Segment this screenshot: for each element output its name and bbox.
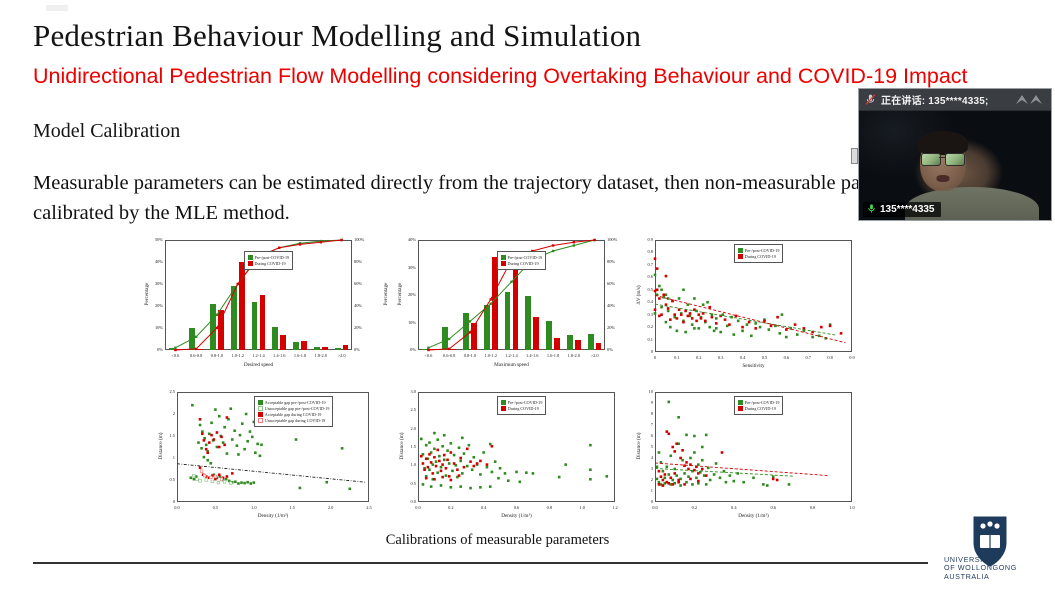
bar: [575, 340, 581, 350]
speaking-status-label: 正在讲话: 135****4335;: [881, 92, 1011, 107]
y-tick-label: 0.5: [396, 481, 416, 486]
y-tick-label: 0.9: [633, 237, 653, 242]
x-tick-label: 0.8: [801, 505, 825, 510]
x-tick-label: 0.2: [682, 505, 706, 510]
y2-tick-label: 100%: [354, 237, 364, 242]
y-tick-label: 10%: [394, 320, 416, 325]
y2-tick-label: 80%: [607, 259, 615, 264]
legend-swatch: [248, 255, 253, 260]
bar: [567, 335, 573, 350]
x-tick-label: 0.6: [761, 505, 785, 510]
bar: [260, 295, 266, 350]
chart-legend: Pre-/post-COVID-19During COVID-19: [734, 244, 784, 263]
y-tick-label: 9: [633, 400, 653, 405]
double-chevron-icon[interactable]: [1011, 93, 1051, 106]
y-tick-label: 8: [633, 411, 653, 416]
x-tick-label: 1.0: [242, 505, 266, 510]
y2-tick-label: 60%: [607, 281, 615, 286]
legend-swatch: [738, 400, 743, 405]
y-axis-title: Distance (m): [636, 426, 642, 466]
y2-tick-label: 20%: [607, 325, 615, 330]
legend-item: Pre-/post-COVID-19: [738, 400, 780, 405]
participant-mouth: [937, 175, 950, 182]
y2-tick-label: 0%: [354, 347, 360, 352]
bar: [588, 334, 594, 351]
x-tick-label: 0.6: [774, 355, 798, 360]
chart-legend: Pre-/post-COVID-19During COVID-19: [244, 251, 294, 270]
microphone-muted-icon[interactable]: [859, 93, 881, 106]
footer-divider: [33, 562, 928, 564]
legend-label: Pre-/post-COVID-19: [255, 255, 290, 260]
legend-item: Acceptable gap during COVID-19: [258, 412, 330, 417]
y-tick-label: 3: [633, 466, 653, 471]
legend-item: During COVID-19: [738, 254, 780, 259]
y-axis-title: Percentage: [144, 274, 150, 314]
bar: [272, 327, 278, 350]
x-tick-label: 0: [643, 355, 667, 360]
legend-swatch: [501, 400, 506, 405]
x-tick-label: 0.2: [439, 505, 463, 510]
y2-tick-label: 100%: [607, 237, 617, 242]
subsection-title: Model Calibration: [33, 120, 180, 143]
y2-tick-label: 0%: [607, 347, 613, 352]
bar: [492, 257, 498, 351]
chart-sensitivity-deltav: 00.10.20.30.40.50.60.70.80.900.10.20.30.…: [625, 232, 860, 380]
video-feed[interactable]: 135****4335: [859, 111, 1051, 221]
uow-logo-text: UNIVERSITY OF WOLLONGONG AUSTRALIA: [944, 556, 1040, 581]
figure-grid: 0%10%20%30%40%50%0%20%40%60%80%100%<0.60…: [135, 232, 860, 532]
x-tick-label: 0.8: [537, 505, 561, 510]
y-axis-title: ΔV (m/s): [636, 275, 642, 315]
y-axis-title: Distance (m): [158, 426, 164, 466]
legend-label: Pre-/post-COVID-19: [508, 255, 543, 260]
x-axis-title: Density (1/m²): [418, 513, 615, 519]
x-tick-label: 0.0: [406, 505, 430, 510]
chart-legend: Pre-/post-COVID-19During COVID-19: [497, 396, 547, 415]
y-tick-label: 0.8: [633, 249, 653, 254]
x-axis-title: Desired speed: [165, 362, 352, 368]
chart-legend: Acceptable gap pre-/post-COVID-19Unaccep…: [254, 396, 334, 427]
y-tick-label: 2: [633, 477, 653, 482]
x-tick-label: 0.4: [722, 505, 746, 510]
bar: [293, 342, 299, 350]
bar: [343, 345, 349, 351]
y2-tick-label: 40%: [607, 303, 615, 308]
chart-gap-acceptance: 0.00.51.01.52.02.500.511.522.5Density (1…: [147, 384, 377, 530]
legend-label: Unacceptable gap pre-/post-COVID-19: [265, 406, 330, 411]
legend-label: Unacceptable gap during COVID-19: [265, 418, 325, 423]
bar: [471, 323, 477, 351]
y2-tick-label: 80%: [354, 259, 362, 264]
bar: [210, 304, 216, 350]
chart-density-distance-1: 0.00.20.40.60.81.01.20.00.51.01.52.02.53…: [388, 384, 623, 530]
bar: [280, 335, 286, 350]
bar: [322, 347, 328, 350]
x-tick-label: 2.5: [357, 505, 381, 510]
y-tick-label: 2: [155, 411, 175, 416]
bar: [596, 343, 602, 350]
y-tick-label: 40%: [394, 237, 416, 242]
x-tick-label: 0.1: [665, 355, 689, 360]
x-tick-label: 0.9: [840, 355, 864, 360]
legend-swatch: [258, 418, 263, 423]
y2-tick-label: 20%: [354, 325, 362, 330]
bar: [252, 302, 258, 350]
y-tick-label: 10%: [141, 325, 163, 330]
y-tick-label: 0%: [141, 347, 163, 352]
x-axis-title: Density (1/m²): [177, 513, 369, 519]
x-tick-label: 0.5: [752, 355, 776, 360]
video-dock-handle[interactable]: [851, 148, 858, 164]
y-tick-label: 1: [633, 488, 653, 493]
bar: [176, 349, 182, 350]
legend-item: Pre-/post-COVID-19: [501, 400, 543, 405]
microphone-active-icon: [866, 201, 877, 219]
x-tick-label: >2.0: [327, 353, 356, 358]
x-tick-label: 1.5: [280, 505, 304, 510]
legend-item: Pre-/post-COVID-19: [501, 255, 543, 260]
y2-tick-label: 40%: [354, 303, 362, 308]
y-tick-label: 0.5: [155, 477, 175, 482]
video-call-overlay[interactable]: 正在讲话: 135****4335;: [858, 88, 1052, 221]
x-tick-label: 1.0: [840, 505, 864, 510]
figure-caption: Calibrations of measurable parameters: [135, 532, 860, 549]
x-tick-label: 0.0: [643, 505, 667, 510]
x-axis-title: Sensitivity: [655, 363, 852, 369]
bar: [546, 321, 552, 350]
legend-label: During COVID-19: [508, 261, 539, 266]
bar: [513, 262, 519, 350]
legend-label: Acceptable gap pre-/post-COVID-19: [265, 400, 326, 405]
x-axis-title: Maximum speed: [418, 362, 605, 368]
x-tick-label: 0.2: [687, 355, 711, 360]
page-title: Pedestrian Behaviour Modelling and Simul…: [33, 18, 641, 54]
x-tick-label: 0.7: [796, 355, 820, 360]
bar: [239, 262, 245, 350]
participant-name: 135****4335: [880, 204, 935, 215]
legend-label: Acceptable gap during COVID-19: [265, 412, 322, 417]
legend-label: During COVID-19: [745, 254, 776, 259]
bar: [463, 313, 469, 350]
legend-swatch: [738, 248, 743, 253]
y-tick-label: 0.2: [633, 324, 653, 329]
y-tick-label: 2.5: [396, 407, 416, 412]
logo-line-3: AUSTRALIA: [944, 573, 1040, 581]
bar: [429, 349, 435, 350]
legend-label: During COVID-19: [255, 261, 286, 266]
legend-label: Pre-/post-COVID-19: [508, 400, 543, 405]
y-tick-label: 40%: [141, 259, 163, 264]
participant-name-badge: 135****4335: [863, 202, 941, 217]
y-tick-label: 2.5: [155, 389, 175, 394]
x-tick-label: >2.0: [580, 353, 609, 358]
bar: [197, 349, 203, 350]
x-tick-label: 0.4: [472, 505, 496, 510]
y-tick-label: 0.0: [396, 499, 416, 504]
bar: [301, 341, 307, 350]
bar: [335, 348, 341, 350]
legend-swatch: [258, 406, 263, 411]
bar: [554, 338, 560, 350]
bar: [525, 296, 531, 350]
y-axis-title: Distance (m): [399, 426, 405, 466]
bar: [169, 348, 175, 350]
y-tick-label: 0%: [394, 347, 416, 352]
legend-swatch: [501, 406, 506, 411]
legend-label: Pre-/post-COVID-19: [745, 400, 780, 405]
x-tick-label: 1.0: [570, 505, 594, 510]
chart-maximum-speed: 0%10%20%30%40%0%20%40%60%80%100%<0.60.6-…: [388, 232, 633, 380]
x-tick-label: 0.6: [505, 505, 529, 510]
x-tick-label: 0.0: [165, 505, 189, 510]
participant-glasses: [921, 153, 965, 164]
section-title-red: Unidirectional Pedestrian Flow Modelling…: [33, 62, 1023, 90]
x-tick-label: 0.5: [203, 505, 227, 510]
legend-swatch: [738, 406, 743, 411]
slide-corner-mark: [46, 5, 68, 11]
legend-item: During COVID-19: [501, 406, 543, 411]
legend-swatch: [258, 400, 263, 405]
y-tick-label: 50%: [141, 237, 163, 242]
bar: [505, 292, 511, 350]
y-tick-label: 0.1: [633, 337, 653, 342]
legend-item: Pre-/post-COVID-19: [248, 255, 290, 260]
legend-swatch: [248, 261, 253, 266]
bar: [189, 328, 195, 350]
bar: [450, 349, 456, 350]
y-tick-label: 0: [155, 499, 175, 504]
chart-desired-speed: 0%10%20%30%40%50%0%20%40%60%80%100%<0.60…: [135, 232, 380, 380]
legend-item: Acceptable gap pre-/post-COVID-19: [258, 400, 330, 405]
legend-swatch: [738, 254, 743, 259]
bar: [484, 305, 490, 350]
legend-swatch: [501, 261, 506, 266]
bar: [231, 286, 237, 350]
legend-item: During COVID-19: [501, 261, 543, 266]
bar: [314, 347, 320, 350]
chart-legend: Pre-/post-COVID-19During COVID-19: [734, 396, 784, 415]
x-axis-title: Density (1/m²): [655, 513, 852, 519]
y-tick-label: 0: [633, 349, 653, 354]
legend-item: Pre-/post-COVID-19: [738, 248, 780, 253]
x-tick-label: 0.8: [818, 355, 842, 360]
y-tick-label: 0: [633, 499, 653, 504]
legend-item: During COVID-19: [738, 406, 780, 411]
bar: [442, 327, 448, 350]
bar: [218, 310, 224, 350]
presentation-slide: Pedestrian Behaviour Modelling and Simul…: [0, 0, 1055, 596]
y2-tick-label: 60%: [354, 281, 362, 286]
legend-label: Pre-/post-COVID-19: [745, 248, 780, 253]
y-axis-title: Percentage: [397, 274, 403, 314]
x-tick-label: 2.0: [319, 505, 343, 510]
y-tick-label: 10: [633, 389, 653, 394]
y-tick-label: 3.0: [396, 389, 416, 394]
x-tick-label: 1.2: [603, 505, 627, 510]
legend-item: Unacceptable gap during COVID-19: [258, 418, 330, 423]
participant-hair: [918, 131, 968, 155]
legend-swatch: [501, 255, 506, 260]
bar: [422, 349, 428, 350]
bar: [533, 317, 539, 350]
legend-item: Unacceptable gap pre-/post-COVID-19: [258, 406, 330, 411]
y-tick-label: 30%: [394, 265, 416, 270]
y-tick-label: 0.7: [633, 262, 653, 267]
x-tick-label: 0.4: [731, 355, 755, 360]
legend-swatch: [258, 412, 263, 417]
x-tick-label: 0.3: [709, 355, 733, 360]
legend-item: During COVID-19: [248, 261, 290, 266]
legend-label: During COVID-19: [508, 406, 539, 411]
video-header-bar: 正在讲话: 135****4335;: [859, 89, 1051, 111]
chart-density-distance-2: 0.00.20.40.60.81.0012345678910Density (1…: [625, 384, 860, 530]
legend-label: During COVID-19: [745, 406, 776, 411]
chart-legend: Pre-/post-COVID-19During COVID-19: [497, 251, 547, 270]
